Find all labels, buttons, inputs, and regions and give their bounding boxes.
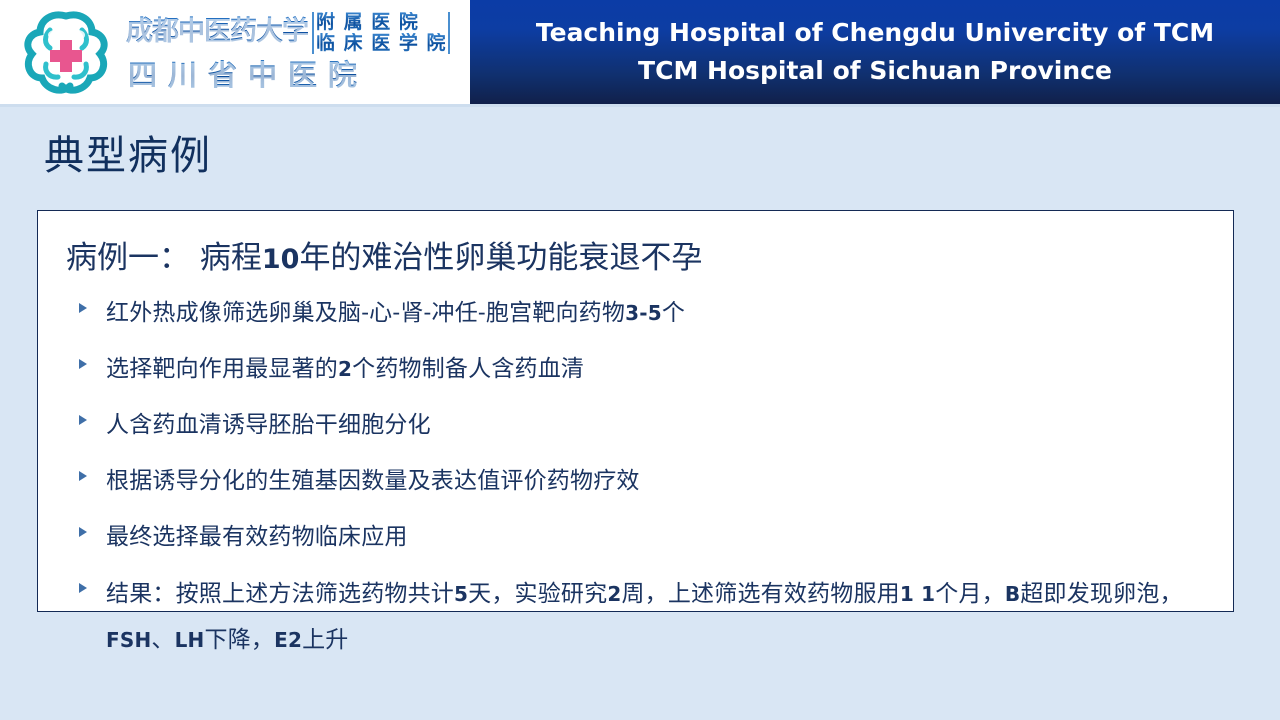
list-item-emphasis: 3-5 — [625, 301, 662, 325]
list-item: 结果：按照上述方法筛选药物共计5天，实验研究2周，上述筛选有效药物服用1 1个月… — [60, 571, 1211, 663]
triangle-right-bullet-icon — [76, 403, 106, 427]
list-item-emphasis: E2 — [274, 628, 302, 652]
triangle-right-bullet-icon — [76, 347, 106, 371]
english-title-banner: Teaching Hospital of Chengdu Univercity … — [470, 0, 1280, 104]
list-item-segment: 周，上述筛选有效药物服用 — [621, 581, 899, 607]
triangle-right-bullet-icon — [76, 515, 106, 539]
list-item-text: 结果：按照上述方法筛选药物共计5天，实验研究2周，上述筛选有效药物服用1 1个月… — [106, 571, 1211, 663]
list-item-segment: 人含药血清诱导胚胎干细胞分化 — [106, 412, 431, 438]
triangle-right-bullet-icon — [76, 459, 106, 483]
list-item: 红外热成像筛选卵巢及脑-心-肾-冲任-胞宫靶向药物3-5个 — [60, 291, 1211, 336]
case-heading: 病例一： 病程10年的难治性卵巢功能衰退不孕 — [66, 235, 1211, 283]
banner-title-line-2: TCM Hospital of Sichuan Province — [638, 52, 1112, 90]
banner-title-line-1: Teaching Hospital of Chengdu Univercity … — [536, 14, 1214, 52]
logo-university-name: 成都中医药大学 — [126, 12, 308, 52]
list-item-segment: 个 — [662, 300, 685, 326]
hospital-logo-zone: 成都中医药大学 附 属 医 院 临 床 医 学 院 四川省中医院 — [0, 0, 470, 104]
list-item-segment: 最终选择最有效药物临床应用 — [106, 524, 408, 550]
case-heading-number: 10 — [262, 244, 300, 275]
list-item-segment: 、 — [151, 627, 174, 653]
hospital-emblem-icon — [14, 4, 118, 100]
logo-hospital-name: 四川省中医院 — [128, 56, 368, 94]
list-item-segment: 天，实验研究 — [468, 581, 607, 607]
list-item-text: 最终选择最有效药物临床应用 — [106, 515, 1211, 560]
list-item-segment: 上升 — [302, 627, 348, 653]
header-divider — [0, 104, 1280, 107]
list-item-emphasis: 1 1 — [900, 582, 935, 606]
case-heading-prefix: 病例一： 病程 — [66, 240, 262, 276]
logo-top-row: 成都中医药大学 附 属 医 院 临 床 医 学 院 — [126, 12, 450, 54]
list-item-segment: 根据诱导分化的生殖基因数量及表达值评价药物疗效 — [106, 468, 640, 494]
list-item-text: 选择靶向作用最显著的2个药物制备人含药血清 — [106, 347, 1211, 392]
list-item-text: 人含药血清诱导胚胎干细胞分化 — [106, 403, 1211, 448]
list-item: 根据诱导分化的生殖基因数量及表达值评价药物疗效 — [60, 459, 1211, 504]
logo-badge-line-1: 附 属 医 院 — [316, 12, 446, 33]
list-item-segment: 红外热成像筛选卵巢及脑-心-肾-冲任-胞宫靶向药物 — [106, 300, 625, 326]
list-item-text: 根据诱导分化的生殖基因数量及表达值评价药物疗效 — [106, 459, 1211, 504]
list-item-emphasis: 2 — [338, 357, 352, 381]
triangle-right-bullet-icon — [76, 571, 106, 595]
list-item: 人含药血清诱导胚胎干细胞分化 — [60, 403, 1211, 448]
list-item: 选择靶向作用最显著的2个药物制备人含药血清 — [60, 347, 1211, 392]
list-item-segment: 个月， — [935, 581, 1005, 607]
case-heading-suffix: 年的难治性卵巢功能衰退不孕 — [299, 240, 702, 276]
list-item: 最终选择最有效药物临床应用 — [60, 515, 1211, 560]
page-title: 典型病例 — [44, 130, 212, 182]
list-item-emphasis: 5 — [454, 582, 468, 606]
list-item-text: 红外热成像筛选卵巢及脑-心-肾-冲任-胞宫靶向药物3-5个 — [106, 291, 1211, 336]
list-item-emphasis: 2 — [607, 582, 621, 606]
header-banner: 成都中医药大学 附 属 医 院 临 床 医 学 院 四川省中医院 Teachin… — [0, 0, 1280, 104]
logo-badge-line-2: 临 床 医 学 院 — [316, 33, 446, 54]
hospital-logo-text: 成都中医药大学 附 属 医 院 临 床 医 学 院 四川省中医院 — [118, 4, 470, 100]
triangle-right-bullet-icon — [76, 291, 106, 315]
slide-root: 成都中医药大学 附 属 医 院 临 床 医 学 院 四川省中医院 Teachin… — [0, 0, 1280, 720]
list-item-emphasis: LH — [175, 628, 205, 652]
list-item-emphasis: B — [1005, 582, 1020, 606]
list-item-emphasis: FSH — [106, 628, 151, 652]
list-item-segment: 超即发现卵泡， — [1020, 581, 1182, 607]
case-bullet-list: 红外热成像筛选卵巢及脑-心-肾-冲任-胞宫靶向药物3-5个选择靶向作用最显著的2… — [60, 291, 1211, 663]
list-item-segment: 结果：按照上述方法筛选药物共计 — [106, 581, 454, 607]
list-item-segment: 选择靶向作用最显著的 — [106, 356, 338, 382]
case-content-box: 病例一： 病程10年的难治性卵巢功能衰退不孕 红外热成像筛选卵巢及脑-心-肾-冲… — [37, 210, 1234, 612]
list-item-segment: 个药物制备人含药血清 — [352, 356, 584, 382]
list-item-segment: 下降， — [205, 627, 275, 653]
logo-affiliation-badge: 附 属 医 院 临 床 医 学 院 — [312, 12, 450, 54]
